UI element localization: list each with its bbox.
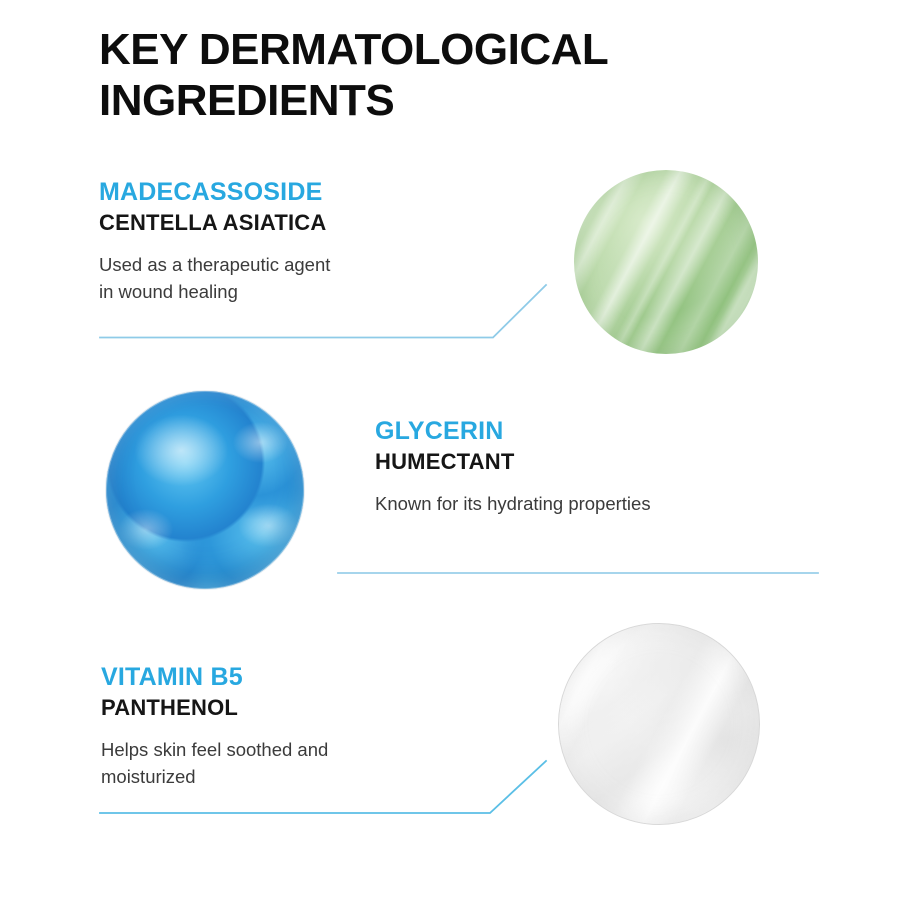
ingredients-infographic: KEY DERMATOLOGICAL INGREDIENTS MADECASSO… [0,0,900,900]
green-cream-swatch [574,170,758,354]
ingredient-subtitle-vitaminb5: PANTHENOL [101,695,481,721]
white-cream-swatch [558,623,760,825]
ingredient-block-glycerin: GLYCERIN HUMECTANT Known for its hydrati… [375,417,815,518]
ingredient-description-madecassoside: Used as a therapeutic agent in wound hea… [99,252,479,305]
ingredient-description-glycerin: Known for its hydrating properties [375,491,815,517]
blue-gel-swatch [105,390,305,590]
ingredient-block-vitaminb5: VITAMIN B5 PANTHENOL Helps skin feel soo… [101,663,481,790]
ingredient-block-madecassoside: MADECASSOSIDE CENTELLA ASIATICA Used as … [99,178,479,305]
ingredient-subtitle-glycerin: HUMECTANT [375,449,815,475]
page-title: KEY DERMATOLOGICAL INGREDIENTS [99,24,739,126]
ingredient-name-vitaminb5: VITAMIN B5 [101,663,481,693]
ingredient-subtitle-madecassoside: CENTELLA ASIATICA [99,210,479,236]
ingredient-name-madecassoside: MADECASSOSIDE [99,178,479,208]
ingredient-name-glycerin: GLYCERIN [375,417,815,447]
ingredient-description-vitaminb5: Helps skin feel soothed and moisturized [101,737,481,790]
